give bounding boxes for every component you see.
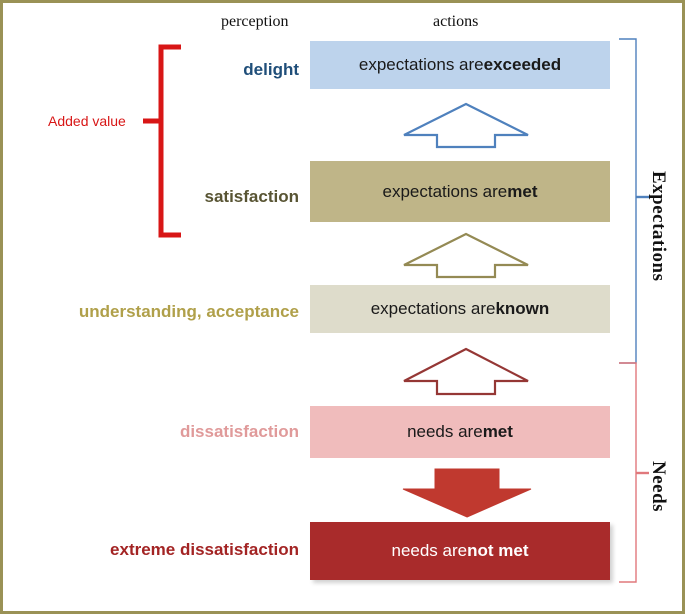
arrow-up-darkred-icon: [401, 346, 531, 396]
action-text-emphasis-0: exceeded: [484, 55, 562, 75]
arrow-down-red-icon: [399, 467, 529, 519]
perception-label-understanding-acceptance: understanding, acceptance: [79, 303, 299, 320]
arrow-up-khaki-icon: [401, 231, 531, 279]
action-bar-expectations-exceeded: expectations are exceeded: [310, 41, 610, 89]
perception-label-delight: delight: [243, 61, 299, 78]
column-header-perception: perception: [221, 13, 289, 31]
action-bar-needs-not-met: needs are not met: [310, 522, 610, 580]
perception-label-dissatisfaction: dissatisfaction: [180, 423, 299, 440]
action-text-prefix-2: expectations are: [371, 299, 496, 319]
side-label-expectations: Expectations: [647, 171, 669, 282]
action-text-prefix-1: expectations are: [383, 182, 508, 202]
action-text-prefix-0: expectations are: [359, 55, 484, 75]
expectations-bracket: [611, 37, 651, 367]
arrow-up-blue-icon: [401, 101, 531, 149]
perception-label-extreme-dissatisfaction: extreme dissatisfaction: [110, 541, 299, 558]
action-bar-expectations-known: expectations are known: [310, 285, 610, 333]
needs-bracket: [611, 360, 651, 605]
diagram-canvas: perception actions delight expectations …: [0, 0, 685, 614]
perception-label-satisfaction: satisfaction: [205, 188, 299, 205]
action-text-emphasis-1: met: [507, 182, 537, 202]
action-bar-needs-met: needs are met: [310, 406, 610, 458]
column-header-actions: actions: [433, 13, 478, 31]
added-value-label: Added value: [48, 113, 126, 129]
side-label-needs: Needs: [647, 461, 669, 512]
action-bar-expectations-met: expectations are met: [310, 161, 610, 222]
action-text-prefix-4: needs are: [391, 541, 467, 561]
action-text-prefix-3: needs are: [407, 422, 483, 442]
action-text-emphasis-2: known: [495, 299, 549, 319]
action-text-emphasis-4: not met: [467, 541, 528, 561]
action-text-emphasis-3: met: [483, 422, 513, 442]
